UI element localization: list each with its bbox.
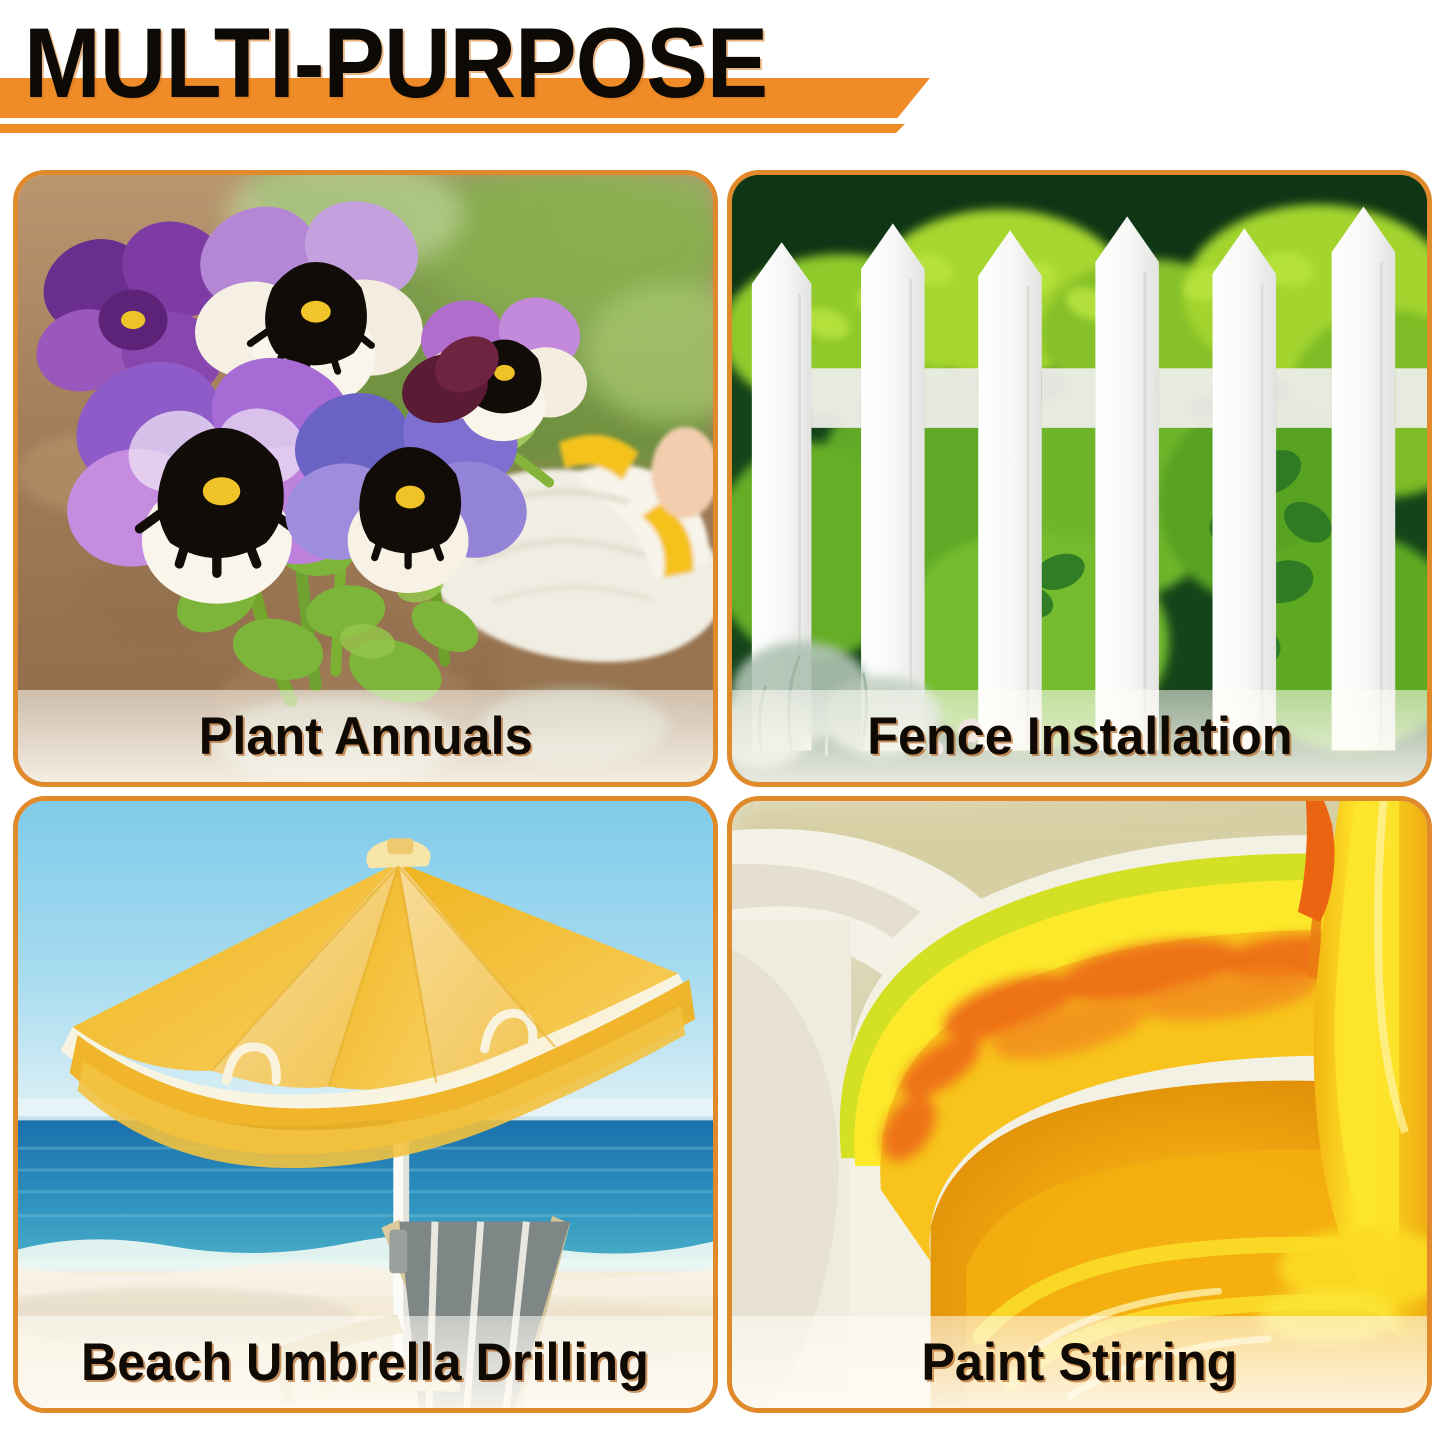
card-caption: Plant Annuals [199,706,533,767]
card-beach-umbrella-drilling[interactable]: Beach Umbrella Drilling [13,796,718,1413]
caption-band: Fence Installation [732,690,1427,782]
card-caption: Fence Installation [867,706,1292,767]
caption-band: Paint Stirring [732,1316,1427,1408]
card-plant-annuals[interactable]: Plant Annuals [13,170,718,787]
card-caption: Paint Stirring [921,1332,1237,1393]
caption-band: Plant Annuals [18,690,713,782]
use-case-grid: Plant Annuals [13,170,1432,1428]
header-banner: MULTI-PURPOSE [0,0,1445,150]
card-caption: Beach Umbrella Drilling [81,1332,649,1393]
card-fence-installation[interactable]: Fence Installation [727,170,1432,787]
caption-band: Beach Umbrella Drilling [18,1316,713,1408]
card-paint-stirring[interactable]: Paint Stirring [727,796,1432,1413]
orange-banner-underline [0,124,905,133]
page-title: MULTI-PURPOSE [24,8,767,118]
